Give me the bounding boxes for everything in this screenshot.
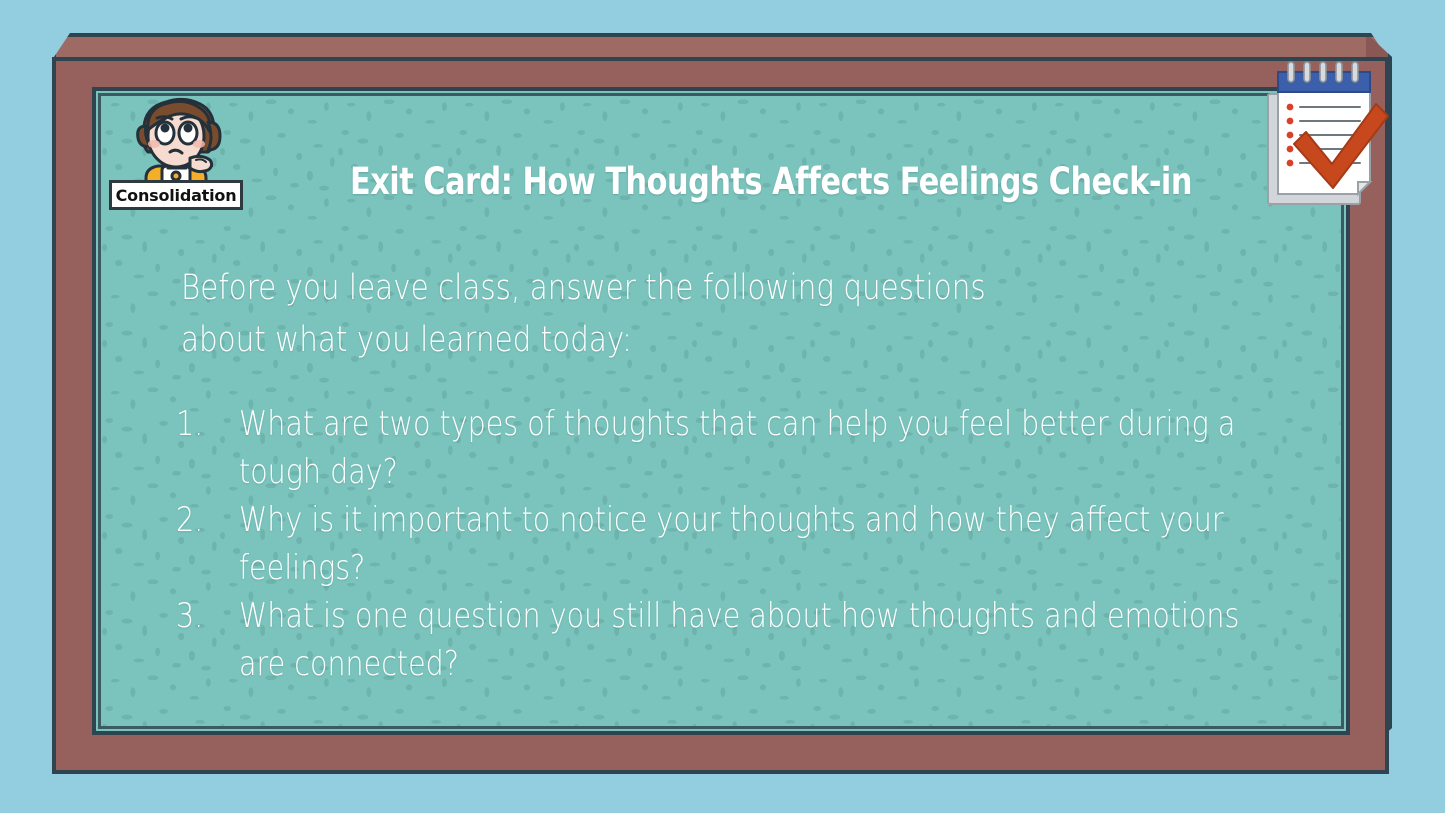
checklist-checkmark-icon — [1262, 60, 1392, 210]
list-item: 1. What are two types of thoughts that c… — [176, 400, 1285, 496]
list-item-number: 2. — [176, 496, 239, 544]
list-item-number: 1. — [176, 400, 239, 448]
page-title: Exit Card: How Thoughts Affects Feelings… — [350, 160, 1170, 203]
list-item: 2. Why is it important to notice your th… — [176, 496, 1285, 592]
list-item-number: 3. — [176, 592, 239, 640]
intro-text: Before you leave class, answer the follo… — [181, 262, 1046, 366]
phase-badge: Consolidation — [109, 180, 243, 210]
list-item-text: Why is it important to notice your thoug… — [239, 496, 1260, 592]
frame-top-bevel — [52, 33, 1389, 60]
list-item-text: What are two types of thoughts that can … — [239, 400, 1260, 496]
question-list: 1. What are two types of thoughts that c… — [176, 400, 1285, 688]
thinking-student-icon — [124, 96, 234, 192]
list-item-text: What is one question you still have abou… — [239, 592, 1260, 688]
list-item: 3. What is one question you still have a… — [176, 592, 1285, 688]
slide-canvas: Consolidation — [0, 0, 1445, 813]
